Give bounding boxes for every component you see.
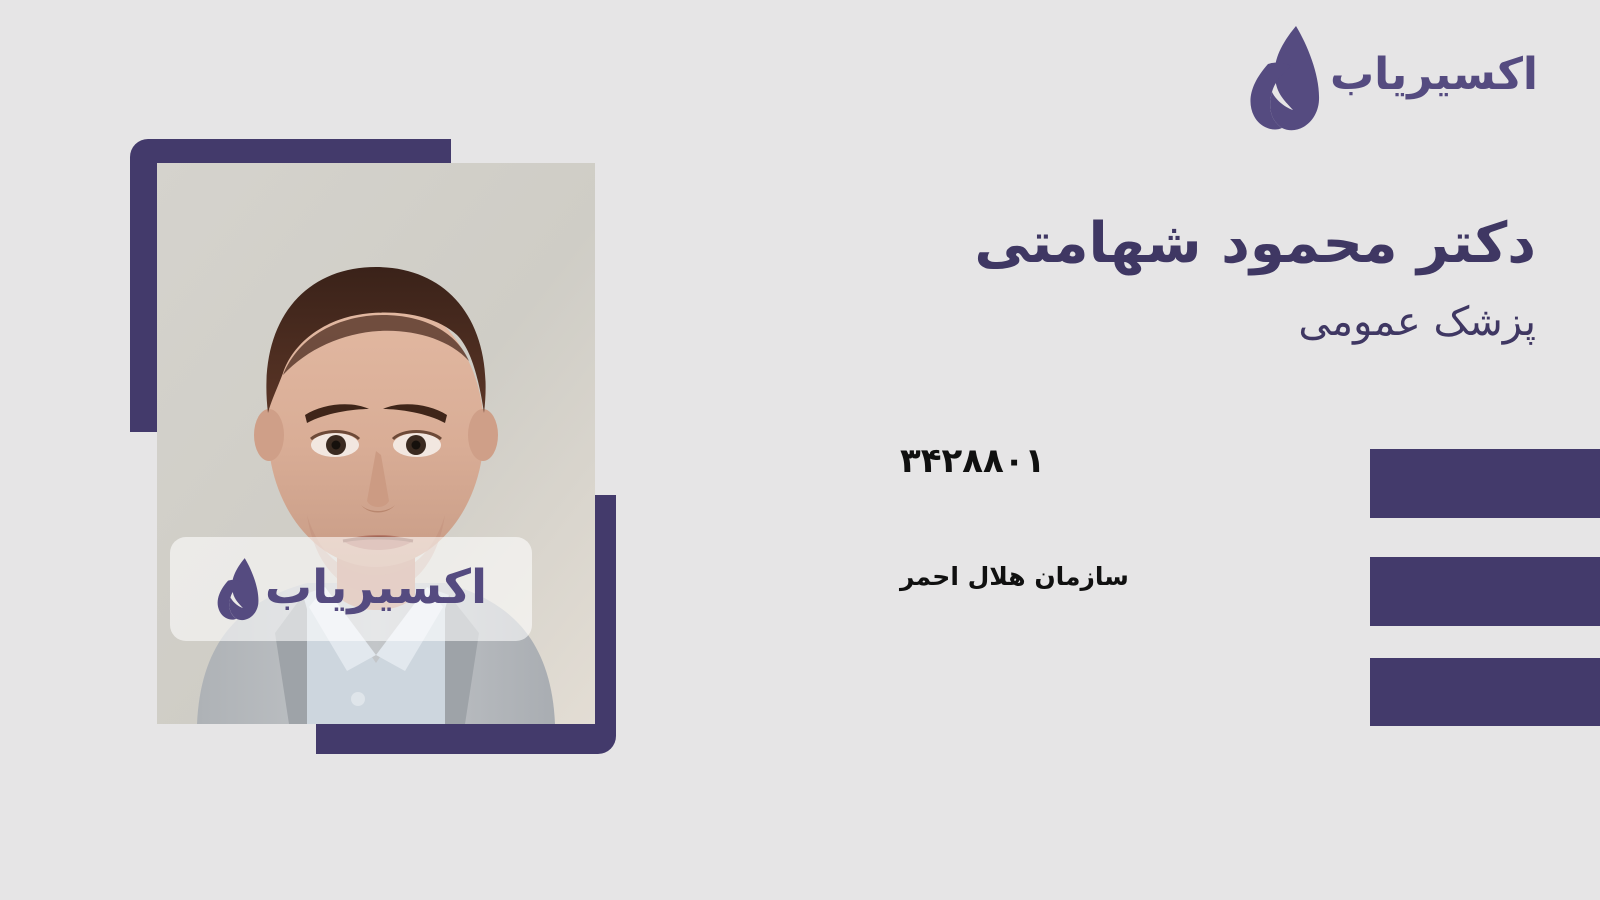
phone-number[interactable]: ۳۴۲۸۸۰۱	[900, 441, 1045, 481]
doctor-info: دکتر محمود شهامتی پزشک عمومی	[776, 210, 1536, 348]
portrait-composition: اکسیریاب	[130, 139, 620, 754]
decor-bar-2	[1370, 557, 1600, 626]
doctor-profile-card: اکسیریاب	[0, 0, 1600, 900]
brand-name: اکسیریاب	[1330, 53, 1538, 103]
phone-row: ۳۴۲۸۸۰۱	[900, 441, 1320, 481]
photo-watermark: اکسیریاب	[170, 537, 532, 641]
watermark-brand-name: اکسیریاب	[265, 564, 487, 615]
organization-name: سازمان هلال احمر	[900, 562, 1129, 591]
flame-drop-icon	[1246, 24, 1320, 132]
organization-row: سازمان هلال احمر	[900, 562, 1320, 591]
doctor-specialty: پزشک عمومی	[776, 296, 1536, 348]
doctor-name: دکتر محمود شهامتی	[776, 210, 1536, 278]
decor-bar-3	[1370, 658, 1600, 726]
brand-logo[interactable]: اکسیریاب	[1246, 24, 1538, 132]
flame-drop-icon	[215, 556, 259, 622]
decor-bar-1	[1370, 449, 1600, 518]
